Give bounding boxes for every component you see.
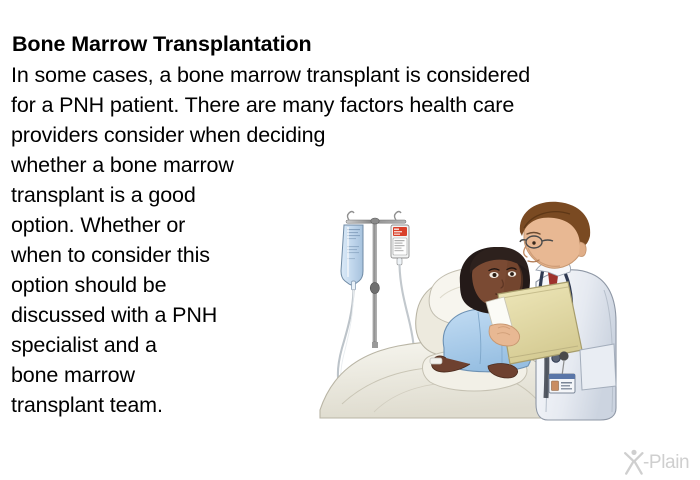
body-line: whether a bone marrow	[11, 150, 681, 180]
x-plain-figure-mark	[623, 449, 645, 475]
id-badge	[549, 374, 575, 393]
doctor-ear	[579, 242, 586, 256]
body-line: providers consider when deciding	[11, 120, 681, 150]
body-line: In some cases, a bone marrow transplant …	[11, 60, 681, 90]
logo-text: -Plain	[643, 453, 689, 472]
page-title: Bone Marrow Transplantation	[12, 30, 681, 58]
iv-site-dressing	[430, 358, 442, 364]
illustration-patient-in-hospital-bed-with-doctor	[312, 198, 624, 424]
badge-photo	[552, 381, 559, 391]
coat-pocket	[580, 344, 616, 390]
body-line: for a PNH patient. There are many factor…	[11, 90, 681, 120]
x-plain-logo: -Plain	[623, 447, 693, 477]
badge-reel	[559, 351, 568, 360]
slide-canvas: Bone Marrow Transplantation In some case…	[0, 0, 700, 480]
